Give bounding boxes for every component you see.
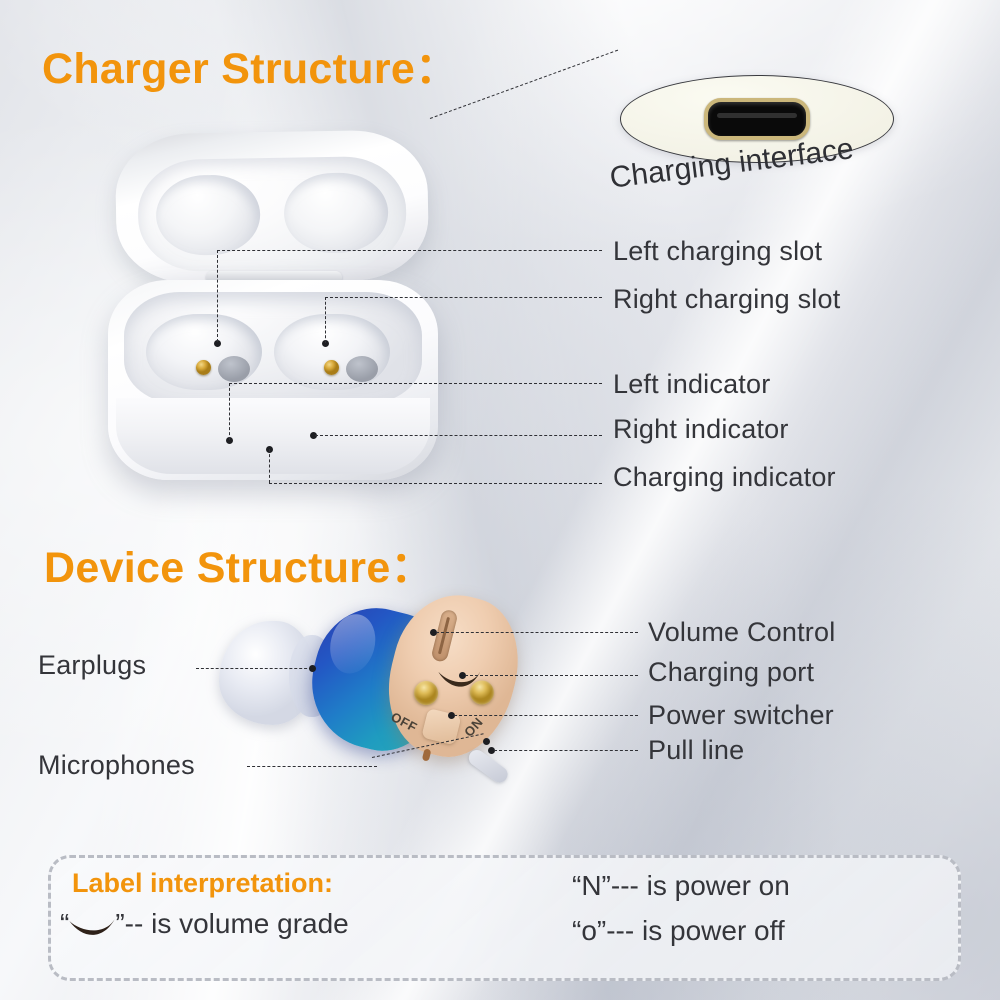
- charging-contact-a: [412, 678, 441, 707]
- legend-power-on-text: is power on: [647, 870, 790, 901]
- legend-power-off-text: is power off: [642, 915, 785, 946]
- right-slot-hole: [346, 356, 378, 382]
- label-left-indicator: Left indicator: [613, 369, 770, 400]
- pull-line-loop: [466, 747, 511, 786]
- label-right-charging-slot: Right charging slot: [613, 284, 840, 315]
- left-slot-hole: [218, 356, 250, 382]
- microphone-port: [422, 748, 432, 761]
- left-charging-pin: [196, 360, 211, 375]
- legend-volume-grade: “”-- is volume grade: [60, 908, 349, 940]
- label-right-indicator: Right indicator: [613, 414, 789, 445]
- legend-power-on-symbol: “N”: [572, 870, 611, 901]
- legend-power-on: “N”--- is power on: [572, 870, 790, 902]
- charging-case-photo: [108, 132, 438, 482]
- legend-power-off: “o”--- is power off: [572, 915, 785, 947]
- usb-c-port-icon: [704, 98, 810, 140]
- right-charging-slot: [274, 314, 390, 390]
- label-pull-line: Pull line: [648, 735, 744, 766]
- label-charging-indicator: Charging indicator: [613, 462, 836, 493]
- case-lid-inner: [137, 156, 407, 273]
- label-microphones: Microphones: [38, 750, 195, 781]
- legend-volume-text: is volume grade: [151, 908, 349, 939]
- case-lid-cavity-right: [283, 172, 388, 254]
- label-power-switcher: Power switcher: [648, 700, 834, 731]
- crescent-volume-icon: [69, 918, 115, 936]
- legend-power-off-symbol: “o”: [572, 915, 606, 946]
- legend-title: Label interpretation:: [72, 868, 333, 899]
- legend-open-quote: “: [60, 908, 69, 939]
- power-switch-body: [421, 708, 461, 745]
- charger-section-title: Charger Structure：: [42, 34, 458, 96]
- case-lid: [115, 129, 430, 284]
- infographic-canvas: Charger Structure：: [0, 0, 1000, 1000]
- left-charging-slot: [146, 314, 262, 390]
- label-left-charging-slot: Left charging slot: [613, 236, 822, 267]
- legend-power-on-dashes: ---: [611, 870, 639, 901]
- volume-control-slot: [430, 609, 458, 663]
- label-earplugs: Earplugs: [38, 650, 146, 681]
- legend-volume-dashes: --: [125, 908, 144, 939]
- case-body-top: [124, 292, 422, 404]
- switch-on-marking: ON: [461, 714, 486, 739]
- legend-close-quote: ”: [115, 908, 124, 939]
- case-body: [108, 280, 438, 480]
- legend-power-off-dashes: ---: [606, 915, 634, 946]
- case-lid-cavity-left: [155, 174, 260, 256]
- label-charging-port: Charging port: [648, 657, 814, 688]
- hearing-aid-device-photo: OFF ON: [215, 585, 515, 800]
- label-volume-control: Volume Control: [648, 617, 835, 648]
- case-front-face: [116, 398, 430, 474]
- right-charging-pin: [324, 360, 339, 375]
